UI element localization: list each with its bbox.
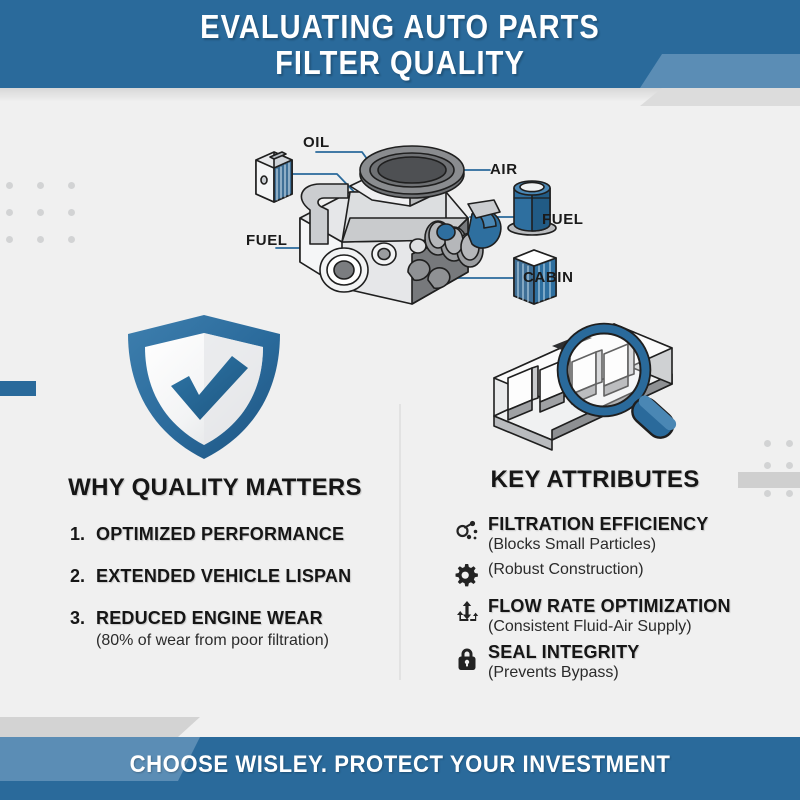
list-item-title: REDUCED ENGINE WEAR [96,608,323,628]
footer-tagline: CHOOSE WISLEY. PROTECT YOUR INVESTMENT [32,751,768,779]
list-item-subtitle: (80% of wear from poor filtration) [96,632,390,650]
diagram-label-air: AIR [490,161,518,178]
page-title: EVALUATING AUTO PARTS FILTER QUALITY [48,9,752,81]
column-divider [399,404,401,680]
header-chevron-decoration [640,54,800,88]
diagram-label-fuel-left: FUEL [246,232,288,249]
list-item-subtitle: (Prevents Bypass) [488,664,770,682]
list-item: 1. OPTIMIZED PERFORMANCE [40,524,390,545]
key-attributes-list: FILTRATION EFFICIENCY (Blocks Small Part… [420,514,770,682]
header-banner: EVALUATING AUTO PARTS FILTER QUALITY [0,0,800,88]
dot [786,462,793,469]
why-quality-heading: WHY QUALITY MATTERS [40,474,390,502]
dot [6,209,13,216]
list-item-number: 2. [70,566,96,587]
left-accent-bar-decoration [0,381,36,396]
diagram-label-oil: OIL [303,134,330,151]
dot [6,182,13,189]
lock-icon [454,642,488,672]
left-dot-grid-decoration [6,182,76,246]
dot [786,490,793,497]
dot [786,440,793,447]
dot [6,236,13,243]
header-chevron-shadow [640,88,800,106]
gear-icon [454,560,488,590]
list-item: FILTRATION EFFICIENCY (Blocks Small Part… [420,514,770,554]
dot [37,209,44,216]
list-item: SEAL INTEGRITY (Prevents Bypass) [420,642,770,682]
list-item: 2. EXTENDED VEHICLE LISPAN [40,566,390,587]
page-title-line-1: EVALUATING AUTO PARTS [48,9,752,45]
list-item-subtitle: (Consistent Fluid-Air Supply) [488,618,770,636]
why-quality-list: 1. OPTIMIZED PERFORMANCE 2. EXTENDED VEH… [40,524,390,650]
dot [37,236,44,243]
flow-arrows-icon [454,596,488,626]
magnifier-filter-icon [486,322,686,462]
particles-icon [454,514,488,544]
footer-chevron-shadow [0,717,200,737]
list-item-subtitle: (Robust Construction) [488,561,770,579]
list-item-title: EXTENDED VEHICLE LISPAN [96,566,351,586]
list-item-title: FLOW RATE OPTIMIZATION [488,596,731,616]
key-attributes-heading: KEY ATTRIBUTES [420,466,770,494]
shield-check-icon [122,312,287,462]
list-item-title: FILTRATION EFFICIENCY [488,514,709,534]
dot [68,182,75,189]
list-item-title: OPTIMIZED PERFORMANCE [96,524,344,544]
list-item-subtitle: (Blocks Small Particles) [488,536,770,554]
list-item: (Robust Construction) [420,560,770,590]
list-item-title: SEAL INTEGRITY [488,642,640,662]
key-attributes-panel: KEY ATTRIBUTES FILTRATION EFFICIENCY (Bl [420,466,770,688]
why-quality-matters-panel: WHY QUALITY MATTERS 1. OPTIMIZED PERFORM… [40,474,390,671]
dot [764,440,771,447]
list-item-number: 1. [70,524,96,545]
dot [37,182,44,189]
page-title-line-2: FILTER QUALITY [48,45,752,81]
infographic-page: EVALUATING AUTO PARTS FILTER QUALITY [0,0,800,800]
dot [68,236,75,243]
diagram-label-cabin: CABIN [523,269,574,286]
footer-banner: CHOOSE WISLEY. PROTECT YOUR INVESTMENT [0,737,800,800]
list-item-number: 3. [70,608,96,629]
dot [68,209,75,216]
list-item: 3. REDUCED ENGINE WEAR (80% of wear from… [40,608,390,650]
diagram-label-fuel-right: FUEL [542,211,584,228]
list-item: FLOW RATE OPTIMIZATION (Consistent Fluid… [420,596,770,636]
